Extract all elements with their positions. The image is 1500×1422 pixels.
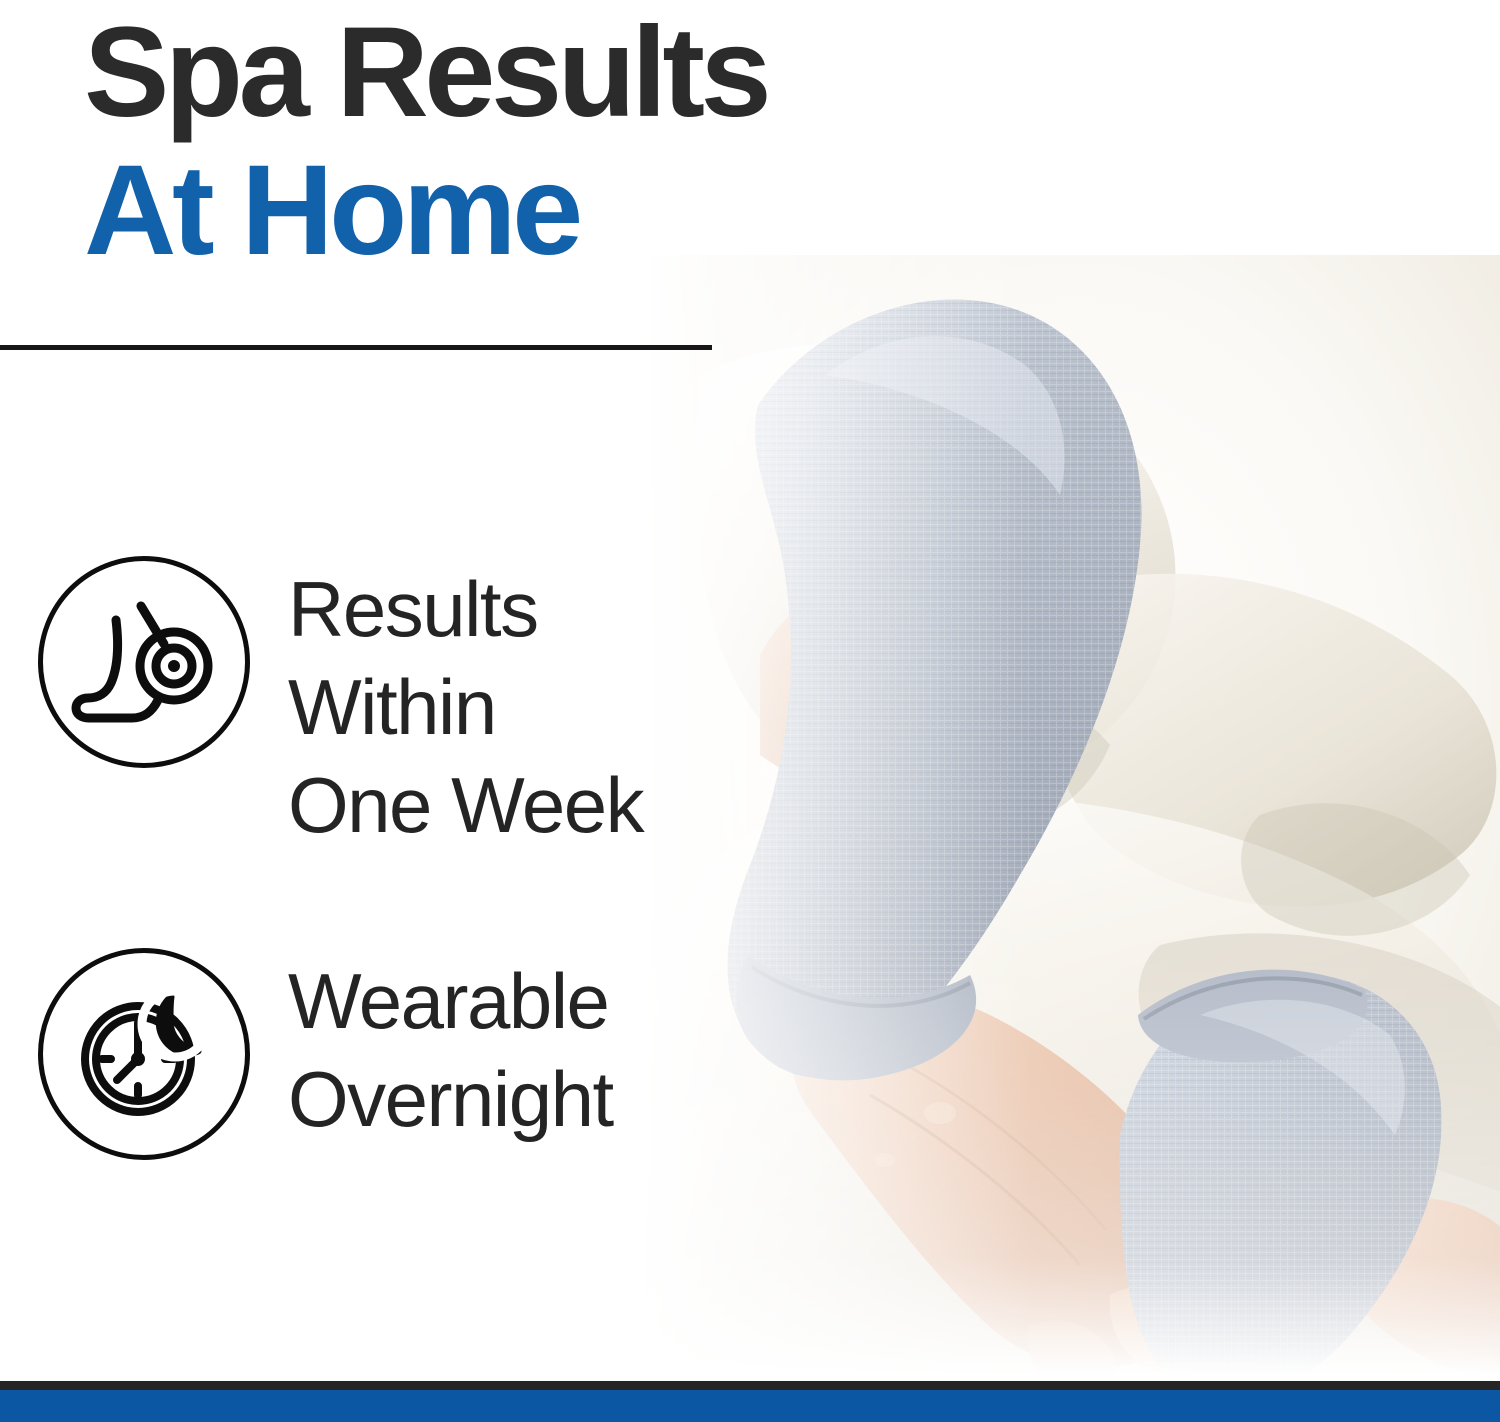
header-divider-rule: [0, 345, 712, 350]
feature-label: Results Within One Week: [288, 556, 643, 854]
feature-label: Wearable Overnight: [288, 948, 613, 1148]
feature-icon-badge: [38, 556, 250, 768]
feature-icon-badge: [38, 948, 250, 1160]
clock-moon-overnight-icon: [69, 979, 219, 1129]
page-title: Spa Results At Home: [84, 4, 1044, 280]
headline-line-primary: Spa Results: [84, 4, 1044, 142]
footer-brand-bar: [0, 1390, 1500, 1422]
headline-line-accent: At Home: [84, 142, 1044, 280]
feet-gel-socks-photo-illustration: [640, 255, 1500, 1375]
foot-pressure-point-icon: [69, 587, 219, 737]
product-infographic-canvas: Spa Results At Home Results Within One W…: [0, 0, 1500, 1422]
feature-item-results-within-one-week: Results Within One Week: [38, 556, 643, 854]
footer-dark-rule: [0, 1381, 1500, 1390]
hero-photo: [640, 255, 1500, 1375]
feature-item-wearable-overnight: Wearable Overnight: [38, 948, 613, 1160]
